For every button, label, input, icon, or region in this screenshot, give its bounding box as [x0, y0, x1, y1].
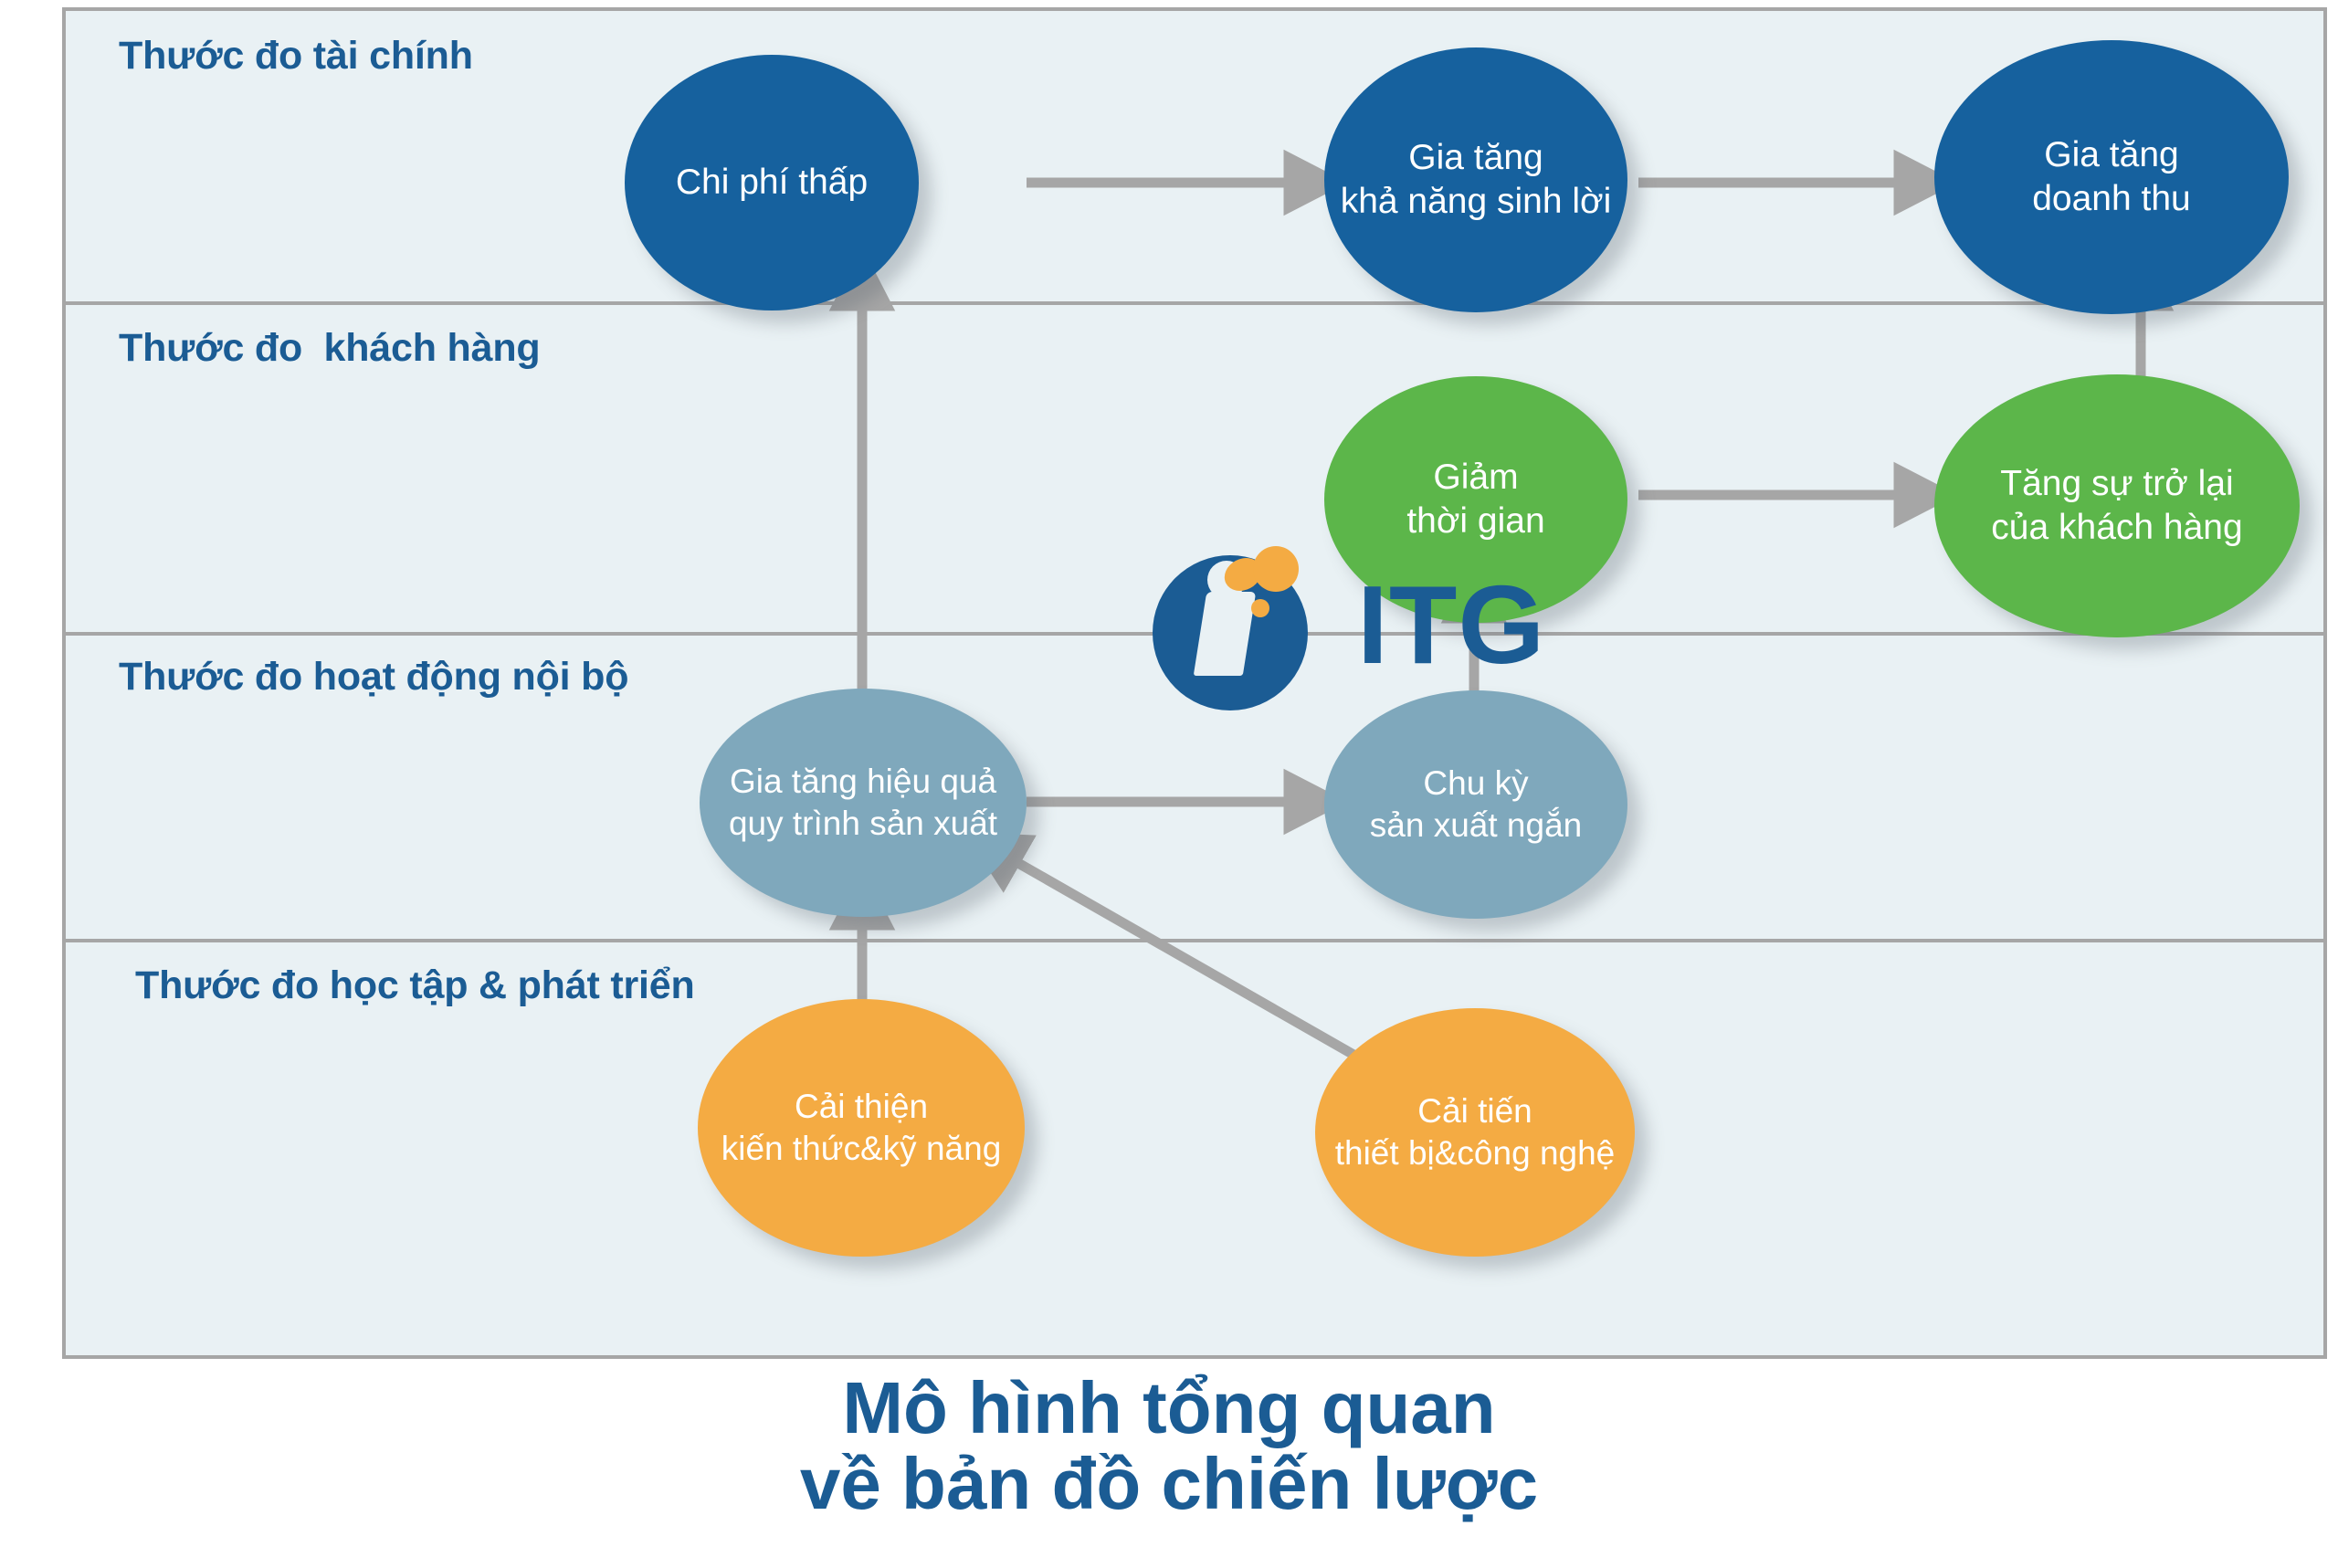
- node-label: Gia tăngdoanh thu: [2032, 133, 2191, 222]
- node-label: Tăng sự trở lạicủa khách hàng: [1991, 462, 2242, 551]
- node-gia-tang-kha-nang-sinh-loi[interactable]: Gia tăngkhả năng sinh lời: [1324, 47, 1627, 312]
- node-chi-phi-thap[interactable]: Chi phí thấp: [625, 55, 919, 310]
- slide-caption: Mô hình tổng quan về bản đồ chiến lược: [0, 1370, 2338, 1521]
- logo-orange-dot-large: [1253, 546, 1299, 592]
- node-label: Giảmthời gian: [1406, 456, 1544, 544]
- perspective-label-internal: Thước đo hoạt động nội bộ: [119, 658, 628, 697]
- itg-wordmark: ITG: [1357, 569, 1545, 680]
- node-gia-tang-doanh-thu[interactable]: Gia tăngdoanh thu: [1934, 40, 2289, 314]
- perspective-label-learning: Thước đo học tập & phát triển: [135, 966, 695, 1005]
- perspective-label-financial: Thước đo tài chính: [119, 37, 473, 76]
- node-label: Chi phí thấp: [676, 161, 868, 205]
- strategy-map-board: Thước đo tài chính Thước đo khách hàng T…: [62, 7, 2327, 1359]
- caption-line-1: Mô hình tổng quan: [0, 1370, 2338, 1446]
- node-label: Gia tăng hiệu quảquy trình sản xuất: [729, 761, 997, 845]
- divider-financial-customer: [66, 301, 2323, 305]
- node-cai-thien-kien-thuc-ky-nang[interactable]: Cải thiệnkiến thức&kỹ năng: [698, 999, 1025, 1257]
- divider-internal-learning: [66, 939, 2323, 942]
- node-label: Cải thiệnkiến thức&kỹ năng: [721, 1086, 1002, 1170]
- node-gia-tang-hieu-qua-quy-trinh-san-xuat[interactable]: Gia tăng hiệu quảquy trình sản xuất: [700, 689, 1027, 917]
- caption-line-2: về bản đồ chiến lược: [0, 1446, 2338, 1521]
- node-label: Gia tăngkhả năng sinh lời: [1341, 136, 1612, 225]
- node-label: Chu kỳsản xuất ngắn: [1370, 763, 1582, 847]
- perspective-label-customer: Thước đo khách hàng: [119, 329, 540, 368]
- node-tang-su-tro-lai-cua-khach-hang[interactable]: Tăng sự trở lạicủa khách hàng: [1934, 374, 2300, 637]
- node-label: Cải tiếnthiết bị&công nghệ: [1335, 1090, 1616, 1174]
- arrow-tech-to-process: [997, 851, 1381, 1070]
- logo-orange-dot-small: [1251, 599, 1269, 617]
- itg-logo-mark-icon: [1153, 539, 1324, 710]
- itg-logo: ITG: [1153, 533, 1591, 716]
- node-cai-tien-thiet-bi-cong-nghe[interactable]: Cải tiếnthiết bị&công nghệ: [1315, 1008, 1635, 1257]
- strategy-map-slide: Thước đo tài chính Thước đo khách hàng T…: [0, 0, 2338, 1568]
- node-chu-ky-san-xuat-ngan[interactable]: Chu kỳsản xuất ngắn: [1324, 690, 1627, 919]
